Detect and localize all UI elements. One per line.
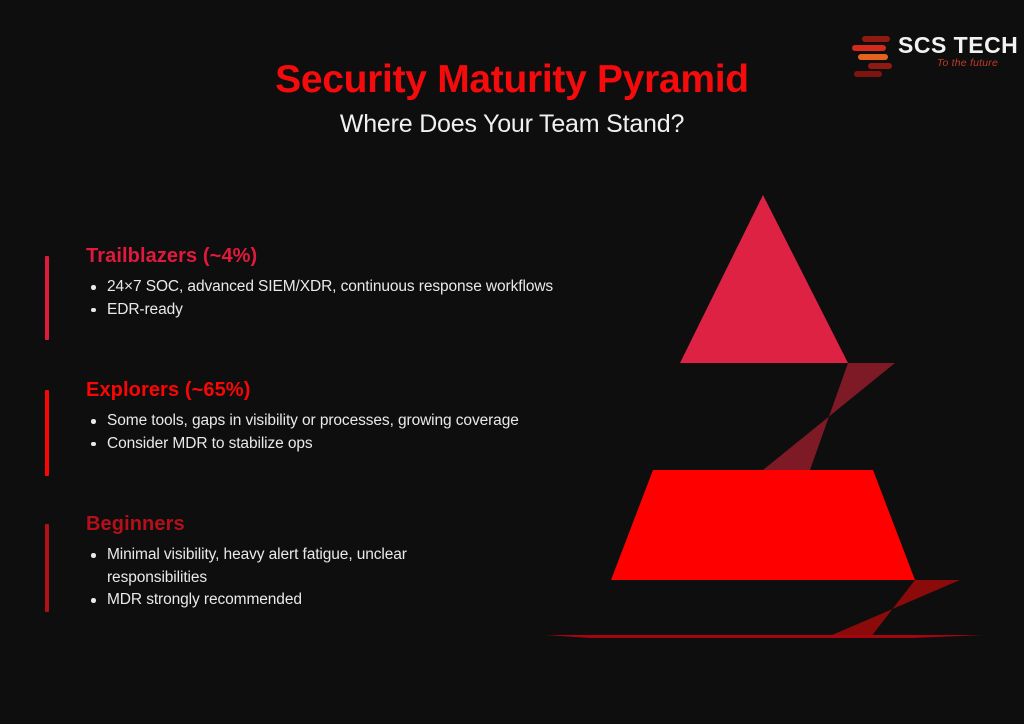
level-accent-bar bbox=[45, 524, 49, 612]
bullet-dot-icon bbox=[91, 442, 96, 447]
pyramid-tier-trailblazers bbox=[680, 195, 848, 363]
logo-bar-1 bbox=[862, 36, 890, 42]
level-accent-bar bbox=[45, 390, 49, 476]
list-item-text: EDR-ready bbox=[107, 301, 183, 318]
slide-canvas: SCS TECH To the future Security Maturity… bbox=[0, 0, 1024, 724]
list-item-text: 24×7 SOC, advanced SIEM/XDR, continuous … bbox=[107, 278, 553, 295]
list-item-text: Minimal visibility, heavy alert fatigue,… bbox=[107, 546, 407, 586]
level-accent-bar bbox=[45, 256, 49, 340]
logo-brand-name: SCS TECH bbox=[898, 32, 998, 58]
bullet-dot-icon bbox=[91, 419, 96, 424]
bullet-dot-icon bbox=[91, 598, 96, 603]
list-item: Minimal visibility, heavy alert fatigue,… bbox=[107, 544, 479, 589]
pyramid-tier-explorers bbox=[611, 470, 915, 580]
page-title: Security Maturity Pyramid bbox=[0, 58, 1024, 102]
pyramid-chart bbox=[520, 180, 1020, 650]
logo-bar-2 bbox=[852, 45, 886, 51]
pyramid-tier-beginners bbox=[545, 635, 983, 638]
bullet-dot-icon bbox=[91, 285, 96, 290]
list-item-text: MDR strongly recommended bbox=[107, 591, 302, 608]
bullet-dot-icon bbox=[91, 308, 96, 313]
pyramid-connector-upper bbox=[763, 363, 895, 470]
page-subtitle: Where Does Your Team Stand? bbox=[0, 110, 1024, 139]
bullet-dot-icon bbox=[91, 553, 96, 558]
pyramid-connector-lower bbox=[825, 580, 960, 638]
list-item-text: Consider MDR to stabilize ops bbox=[107, 435, 313, 452]
list-item-text: Some tools, gaps in visibility or proces… bbox=[107, 412, 519, 429]
